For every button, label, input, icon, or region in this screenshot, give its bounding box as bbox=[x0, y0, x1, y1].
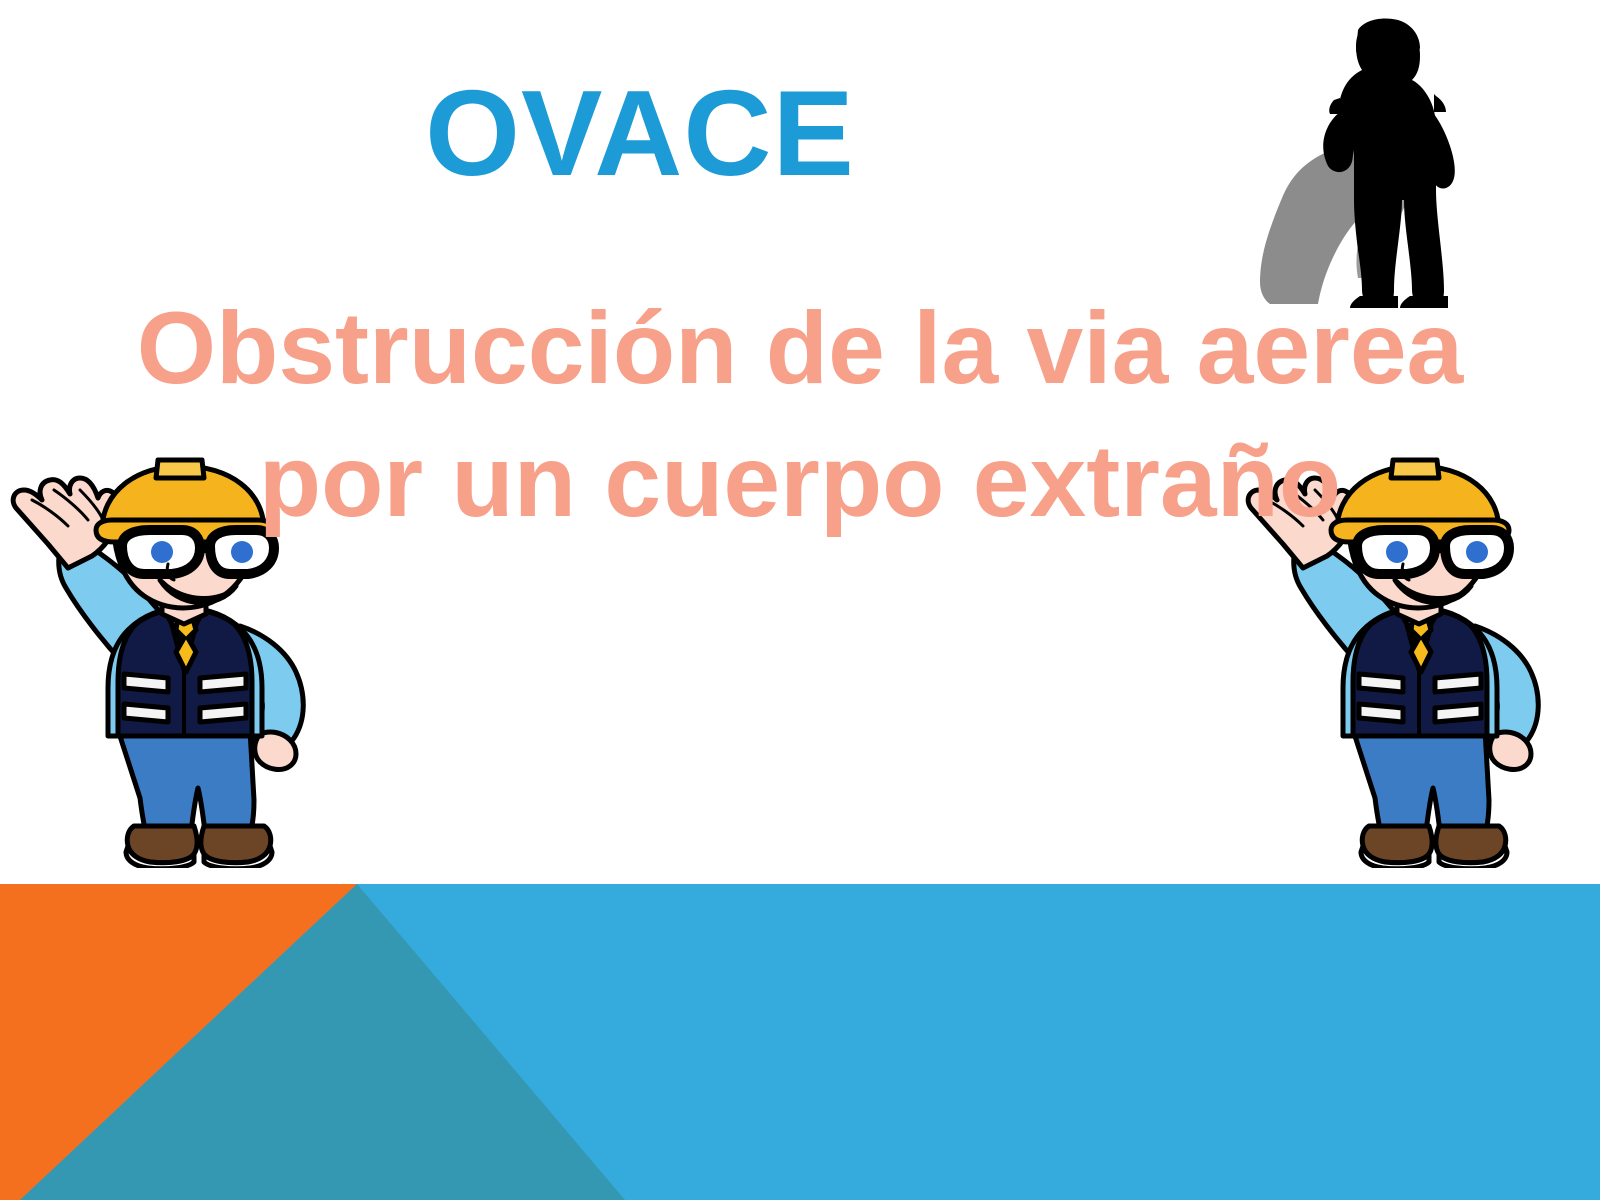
subtitle: Obstrucción de la via aerea por un cuerp… bbox=[0, 282, 1600, 547]
bottom-banner bbox=[0, 884, 1600, 1200]
subtitle-line-1: Obstrucción de la via aerea bbox=[137, 291, 1464, 405]
subtitle-line-2: por un cuerpo extraño bbox=[0, 415, 1600, 548]
presentation-slide: OVACE Obstrucción de la via aerea por un… bbox=[0, 0, 1600, 1200]
page-title: OVACE bbox=[0, 72, 1440, 194]
standing-person-silhouette-icon bbox=[1248, 4, 1488, 309]
